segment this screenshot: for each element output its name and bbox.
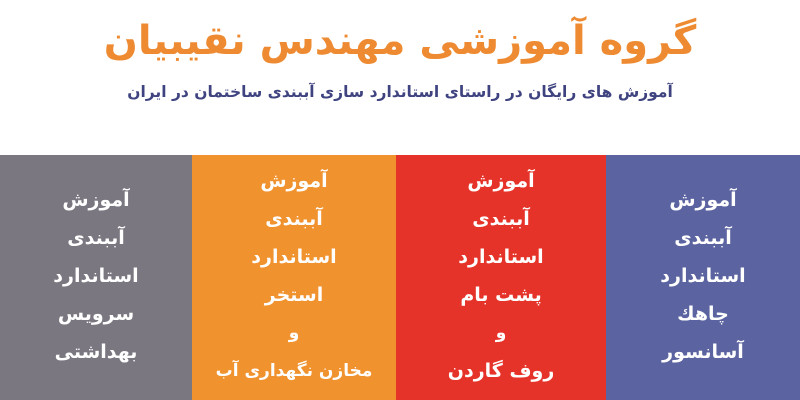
course-column-elevator-pit[interactable]: آموزش آببندی استاندارد چاهك آسانسور — [606, 155, 800, 400]
banner-header: گروه آموزشی مهندس نقیبیان آموزش های رایگ… — [0, 0, 800, 155]
course-line: استاندارد — [458, 238, 543, 276]
course-line: روف گاردن — [448, 352, 555, 390]
course-line: استاندارد — [660, 257, 745, 295]
course-line-conjunction: و — [496, 314, 507, 352]
course-line: آموزش — [62, 181, 129, 219]
course-line: آببندی — [674, 219, 732, 257]
course-line: پشت بام — [460, 276, 541, 314]
course-columns: آموزش آببندی استاندارد چاهك آسانسور آموز… — [0, 155, 800, 400]
course-line: آموزش — [467, 162, 534, 200]
course-column-roof-garden[interactable]: آموزش آببندی استاندارد پشت بام و روف گار… — [396, 155, 606, 400]
brand-title: گروه آموزشی مهندس نقیبیان — [104, 16, 697, 66]
course-line: استخر — [265, 276, 323, 314]
course-line: آسانسور — [662, 333, 744, 371]
course-line: آببندی — [67, 219, 125, 257]
course-line: چاهك — [677, 295, 729, 333]
course-line-conjunction: و — [289, 314, 300, 352]
course-line: آببندی — [265, 200, 323, 238]
course-line: آموزش — [260, 162, 327, 200]
course-line: بهداشتی — [55, 333, 138, 371]
course-line: استاندارد — [251, 238, 336, 276]
course-column-pool-water-tanks[interactable]: آموزش آببندی استاندارد استخر و مخازن نگه… — [192, 155, 396, 400]
brand-subtitle: آموزش های رایگان در راستای استاندارد ساز… — [127, 66, 673, 104]
course-line: آموزش — [669, 181, 736, 219]
course-column-bathroom-service[interactable]: آموزش آببندی استاندارد سرویس بهداشتی — [0, 155, 192, 400]
promo-banner: گروه آموزشی مهندس نقیبیان آموزش های رایگ… — [0, 0, 800, 400]
course-line: مخازن نگهداری آب — [216, 352, 373, 390]
course-line: سرویس — [58, 295, 134, 333]
course-line: آببندی — [472, 200, 530, 238]
course-line: استاندارد — [53, 257, 138, 295]
